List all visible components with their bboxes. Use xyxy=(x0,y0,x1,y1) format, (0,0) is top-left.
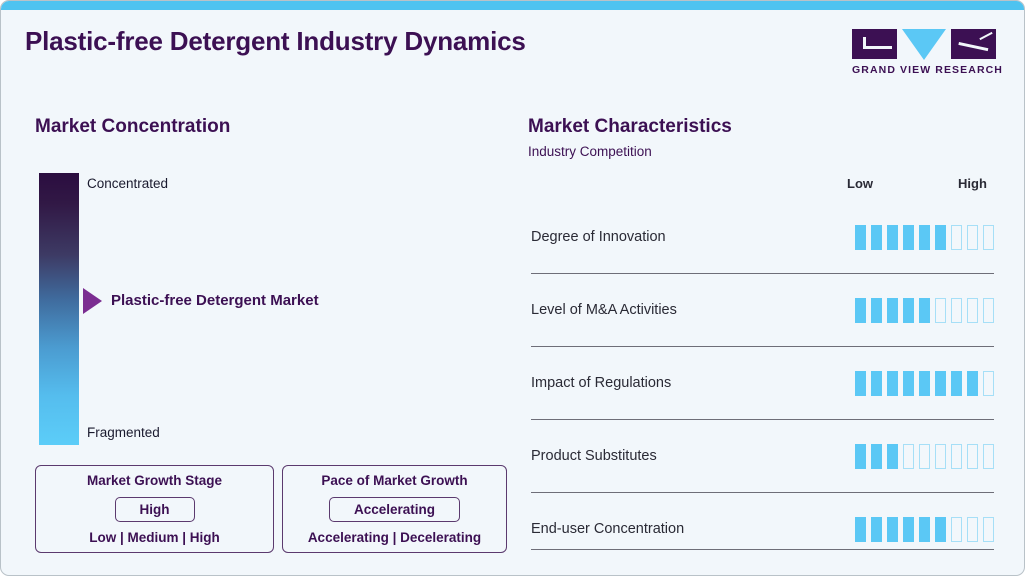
characteristic-row: Product Substitutes xyxy=(531,420,994,493)
characteristic-label: Degree of Innovation xyxy=(531,229,666,245)
market-characteristics-subtitle: Industry Competition xyxy=(528,144,652,159)
rating-segment-empty xyxy=(983,517,994,542)
rating-segment-filled xyxy=(855,225,866,250)
axis-label-low: Low xyxy=(847,176,873,191)
grand-view-research-logo: GRAND VIEW RESEARCH xyxy=(852,29,998,76)
characteristic-label: Product Substitutes xyxy=(531,448,657,464)
logo-triangle-icon xyxy=(902,29,946,60)
rating-segment-filled xyxy=(903,298,914,323)
rating-segment-filled xyxy=(871,444,882,469)
scale-label-concentrated: Concentrated xyxy=(87,176,168,191)
rating-segment-filled xyxy=(855,444,866,469)
rating-segment-empty xyxy=(951,444,962,469)
rating-segment-filled xyxy=(935,371,946,396)
characteristic-rating-bars xyxy=(855,371,994,396)
rating-segment-empty xyxy=(983,371,994,396)
market-growth-stage-card: Market Growth Stage High Low | Medium | … xyxy=(35,465,274,553)
logo-marks xyxy=(852,29,998,59)
rating-segment-filled xyxy=(903,517,914,542)
rating-segment-empty xyxy=(903,444,914,469)
rating-segment-empty xyxy=(983,444,994,469)
axis-label-high: High xyxy=(958,176,987,191)
rating-segment-filled xyxy=(855,371,866,396)
rating-segment-filled xyxy=(855,298,866,323)
rating-segment-empty xyxy=(951,517,962,542)
characteristic-row: Level of M&A Activities xyxy=(531,274,994,347)
rating-segment-filled xyxy=(903,225,914,250)
rating-segment-filled xyxy=(935,517,946,542)
rating-segment-filled xyxy=(951,371,962,396)
market-growth-stage-scale: Low | Medium | High xyxy=(89,530,220,545)
rating-segment-empty xyxy=(919,444,930,469)
infographic-canvas: Plastic-free Detergent Industry Dynamics… xyxy=(0,0,1025,576)
rating-segment-empty xyxy=(967,444,978,469)
logo-wordmark: GRAND VIEW RESEARCH xyxy=(852,64,998,76)
market-concentration-title: Market Concentration xyxy=(35,116,230,138)
characteristic-row: Impact of Regulations xyxy=(531,347,994,420)
rating-segment-filled xyxy=(855,517,866,542)
rating-segment-filled xyxy=(919,517,930,542)
pace-of-market-growth-scale: Accelerating | Decelerating xyxy=(308,530,481,545)
rating-segment-empty xyxy=(983,298,994,323)
rating-segment-empty xyxy=(951,298,962,323)
top-accent-bar xyxy=(1,1,1025,10)
rating-segment-filled xyxy=(887,444,898,469)
pace-of-market-growth-value: Accelerating xyxy=(329,497,460,522)
rating-segment-filled xyxy=(967,371,978,396)
market-growth-stage-title: Market Growth Stage xyxy=(87,473,222,488)
concentration-gradient-scale xyxy=(39,173,79,445)
rating-segment-filled xyxy=(887,371,898,396)
rating-segment-empty xyxy=(967,298,978,323)
rating-segment-empty xyxy=(983,225,994,250)
rating-segment-filled xyxy=(887,298,898,323)
rating-segment-empty xyxy=(967,517,978,542)
rating-segment-filled xyxy=(935,225,946,250)
rating-segment-filled xyxy=(903,371,914,396)
pace-of-market-growth-title: Pace of Market Growth xyxy=(321,473,467,488)
characteristic-rating-bars xyxy=(855,298,994,323)
page-title: Plastic-free Detergent Industry Dynamics xyxy=(25,26,526,57)
rating-segment-filled xyxy=(871,517,882,542)
market-position-label: Plastic-free Detergent Market xyxy=(111,292,319,309)
rating-segment-empty xyxy=(967,225,978,250)
rating-segment-empty xyxy=(935,298,946,323)
characteristic-rating-bars xyxy=(855,225,994,250)
logo-block-left-icon xyxy=(852,29,897,59)
rating-segment-filled xyxy=(919,371,930,396)
rating-segment-filled xyxy=(919,225,930,250)
pace-of-market-growth-card: Pace of Market Growth Accelerating Accel… xyxy=(282,465,507,553)
market-characteristics-title: Market Characteristics xyxy=(528,116,732,138)
characteristic-rating-bars xyxy=(855,444,994,469)
characteristic-row: End-user Concentration xyxy=(531,493,994,565)
rating-segment-empty xyxy=(951,225,962,250)
rating-segment-filled xyxy=(887,225,898,250)
characteristics-rows: Degree of InnovationLevel of M&A Activit… xyxy=(531,201,994,565)
rating-segment-filled xyxy=(887,517,898,542)
characteristic-label: Level of M&A Activities xyxy=(531,302,677,318)
rating-segment-filled xyxy=(871,298,882,323)
characteristic-rating-bars xyxy=(855,517,994,542)
rating-segment-filled xyxy=(871,371,882,396)
characteristic-label: Impact of Regulations xyxy=(531,375,671,391)
rating-segment-empty xyxy=(935,444,946,469)
market-position-marker-icon xyxy=(83,288,102,314)
rating-segment-filled xyxy=(871,225,882,250)
characteristic-row: Degree of Innovation xyxy=(531,201,994,274)
rating-segment-filled xyxy=(919,298,930,323)
characteristics-bottom-rule xyxy=(531,549,994,550)
market-growth-stage-value: High xyxy=(115,497,195,522)
scale-label-fragmented: Fragmented xyxy=(87,425,160,440)
characteristic-label: End-user Concentration xyxy=(531,521,684,537)
logo-block-right-icon xyxy=(951,29,996,59)
